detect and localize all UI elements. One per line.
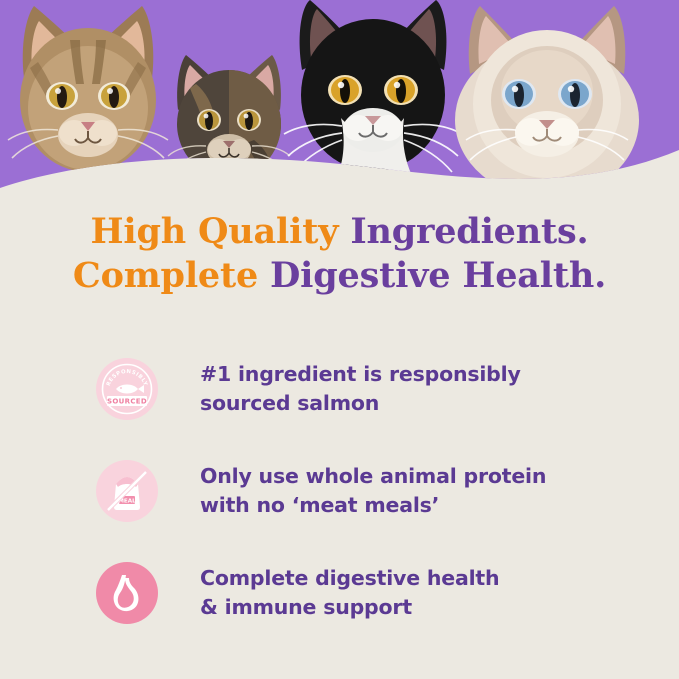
- cat-photo-banner: [0, 0, 679, 205]
- feature-text-digestive: Complete digestive health & immune suppo…: [200, 564, 499, 622]
- meal-bag-icon: MEAL: [96, 460, 158, 522]
- headline-line-2-orange: Complete: [73, 255, 270, 296]
- feature-text-protein: Only use whole animal protein with no ‘m…: [200, 462, 546, 520]
- headline-line-1-purple: Ingredients.: [350, 211, 588, 252]
- ragdoll-cat: [455, 6, 639, 180]
- feature-list: RESPONSIBLY SOURCED #1 ingredient is res…: [0, 338, 679, 644]
- product-feature-poster: High Quality Ingredients. Complete Diges…: [0, 0, 679, 679]
- feature-item-protein: MEAL Only use whole animal protein with …: [0, 440, 679, 542]
- stomach-heart-icon: [96, 562, 158, 624]
- badge-bottom-label: SOURCED: [107, 398, 147, 406]
- tortoiseshell-kitten: [168, 55, 290, 178]
- tabby-cat: [8, 6, 168, 172]
- headline-line-2-purple: Digestive Health.: [270, 255, 606, 296]
- black-and-white-cat: [284, 0, 462, 180]
- responsibly-sourced-badge-icon: RESPONSIBLY SOURCED: [96, 358, 158, 420]
- feature-text-sourced: #1 ingredient is responsibly sourced sal…: [200, 360, 521, 418]
- feature-item-sourced: RESPONSIBLY SOURCED #1 ingredient is res…: [0, 338, 679, 440]
- page-title: High Quality Ingredients. Complete Diges…: [0, 210, 679, 298]
- headline-line-2: Complete Digestive Health.: [0, 254, 679, 298]
- feature-item-digestive: Complete digestive health & immune suppo…: [0, 542, 679, 644]
- headline-line-1-orange: High Quality: [91, 211, 351, 252]
- headline-line-1: High Quality Ingredients.: [0, 210, 679, 254]
- cats-illustration: [0, 0, 679, 180]
